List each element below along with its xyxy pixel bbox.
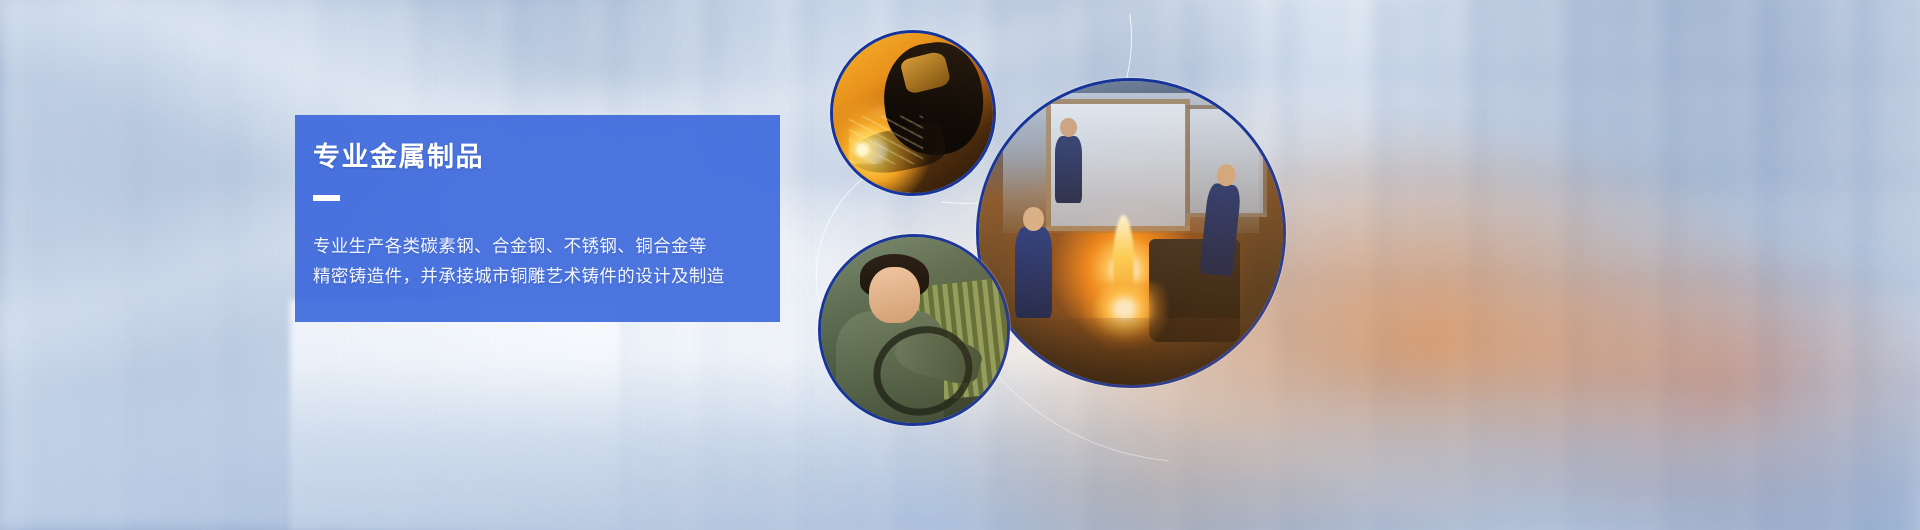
promo-description-line-1: 专业生产各类碳素钢、合金钢、不锈钢、铜合金等 xyxy=(313,231,770,261)
welding-sparks xyxy=(849,116,923,164)
machinist-face xyxy=(869,267,919,323)
foundry-worker-left xyxy=(1015,227,1051,318)
photo-collage xyxy=(780,0,1920,530)
promo-description: 专业生产各类碳素钢、合金钢、不锈钢、铜合金等 精密铸造件，并承接城市铜雕艺术铸件… xyxy=(313,231,780,291)
promo-panel: 专业金属制品 专业生产各类碳素钢、合金钢、不锈钢、铜合金等 精密铸造件，并承接城… xyxy=(295,115,780,322)
foundry-pour-photo xyxy=(976,78,1286,388)
welding-photo xyxy=(830,30,996,196)
banner-root: 专业金属制品 专业生产各类碳素钢、合金钢、不锈钢、铜合金等 精密铸造件，并承接城… xyxy=(0,0,1920,530)
foundry-worker-back xyxy=(1055,136,1082,203)
title-divider xyxy=(313,195,340,201)
foundry-floor xyxy=(979,318,1283,385)
machinist-photo xyxy=(818,234,1010,426)
promo-title: 专业金属制品 xyxy=(313,143,780,173)
promo-description-line-2: 精密铸造件，并承接城市铜雕艺术铸件的设计及制造 xyxy=(313,261,770,291)
